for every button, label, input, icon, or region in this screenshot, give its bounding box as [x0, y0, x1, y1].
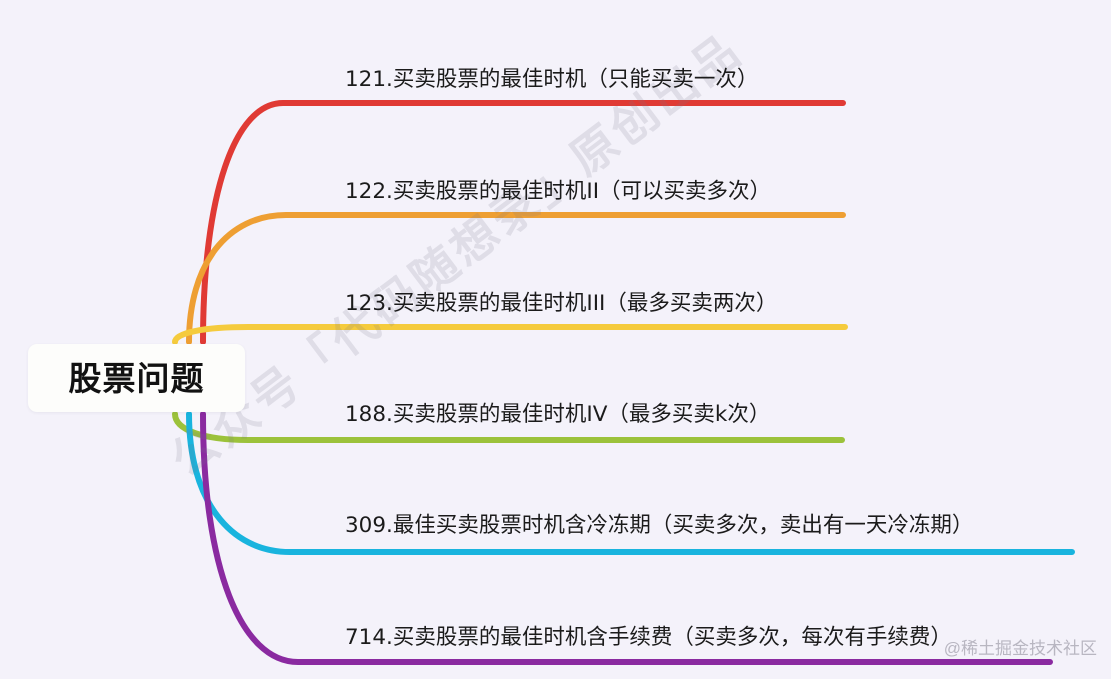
root-node[interactable]: 股票问题	[28, 344, 245, 412]
branch-label-2[interactable]: 122.买卖股票的最佳时机II（可以买卖多次）	[345, 174, 771, 205]
corner-watermark: @稀土掘金技术社区	[944, 634, 1097, 659]
branch-curve[interactable]	[189, 215, 843, 342]
branch-label-1[interactable]: 121.买卖股票的最佳时机（只能买卖一次）	[345, 62, 758, 93]
branch-label-6[interactable]: 714.买卖股票的最佳时机含手续费（买卖多次，每次有手续费）	[345, 620, 952, 651]
branch-connector-layer	[0, 0, 1111, 679]
branch-curve[interactable]	[175, 327, 845, 342]
branch-label-5[interactable]: 309.最佳买卖股票时机含冷冻期（买卖多次，卖出有一天冷冻期）	[345, 508, 973, 539]
branch-label-3[interactable]: 123.买卖股票的最佳时机III（最多买卖两次）	[345, 286, 777, 317]
root-node-label: 股票问题	[69, 362, 205, 395]
branch-label-4[interactable]: 188.买卖股票的最佳时机IV（最多买卖k次）	[345, 397, 770, 428]
mindmap-canvas: 公众号「代码随想录」原创出品 股票问题 121.买卖股票的最佳时机（只能买卖一次…	[0, 0, 1111, 679]
